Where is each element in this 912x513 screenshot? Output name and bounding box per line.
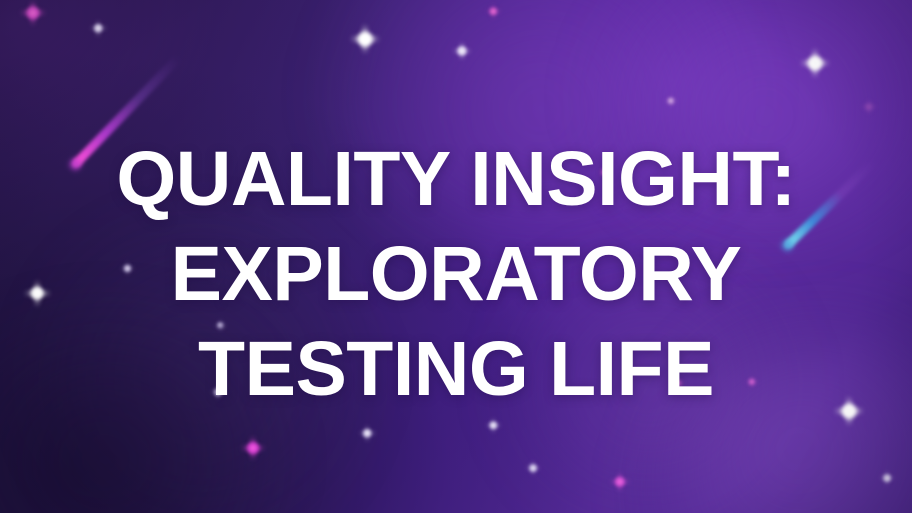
slide-title-block: QUALITY INSIGHT: EXPLORATORY TESTING LIF…	[0, 0, 912, 513]
title-line-3: TESTING LIFE	[198, 322, 714, 417]
title-line-2: EXPLORATORY	[171, 227, 742, 322]
title-line-1: QUALITY INSIGHT:	[116, 132, 795, 227]
slide-canvas: QUALITY INSIGHT: EXPLORATORY TESTING LIF…	[0, 0, 912, 513]
